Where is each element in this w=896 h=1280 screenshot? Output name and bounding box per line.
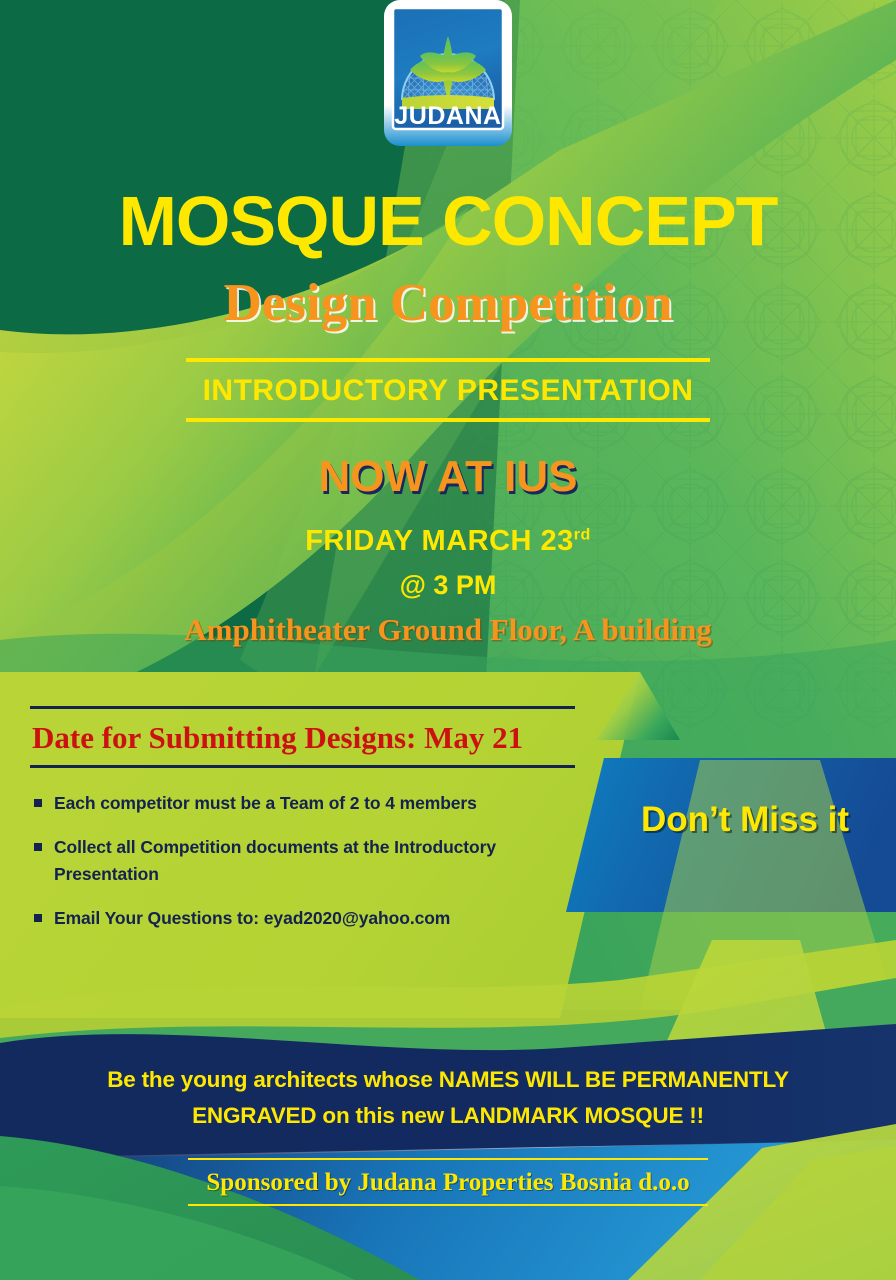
event-date: FRIDAY MARCH 23rd	[0, 527, 896, 556]
now-at-ius-heading: NOW AT IUS	[0, 455, 896, 499]
details-panel: Date for Submitting Designs: May 21 Each…	[30, 706, 590, 950]
poster-title: MOSQUE CONCEPT	[0, 186, 896, 256]
submission-deadline: Date for Submitting Designs: May 21	[30, 709, 590, 765]
poster-subtitle: Design Competition	[0, 277, 896, 330]
sponsor-text: Sponsored by Judana Properties Bosnia d.…	[188, 1160, 708, 1204]
banner-line-1: Be the young architects whose NAMES WILL…	[0, 1062, 896, 1098]
poster-root: JUDANA MOSQUE CONCEPT Design Competition…	[0, 0, 896, 1280]
dont-miss-it-callout: Don’t Miss it	[600, 800, 890, 840]
event-date-text: FRIDAY MARCH 23	[305, 525, 574, 557]
competition-rules-list: Each competitor must be a Team of 2 to 4…	[30, 790, 590, 933]
introductory-presentation-label: INTRODUCTORY PRESENTATION	[186, 362, 710, 418]
event-venue: Amphitheater Ground Floor, A building	[0, 614, 896, 645]
logo-wordmark: JUDANA	[394, 102, 501, 130]
list-item: Collect all Competition documents at the…	[30, 834, 590, 888]
event-time: @ 3 PM	[0, 572, 896, 599]
judana-logo: JUDANA	[376, 0, 520, 152]
sponsor-rule-bottom	[188, 1204, 708, 1206]
introductory-presentation-block: INTRODUCTORY PRESENTATION	[186, 358, 710, 422]
judana-logo-icon: JUDANA	[376, 0, 520, 152]
event-date-ordinal: rd	[574, 526, 591, 543]
list-item: Email Your Questions to: eyad2020@yahoo.…	[30, 905, 590, 932]
sponsor-footer: Sponsored by Judana Properties Bosnia d.…	[188, 1158, 708, 1206]
banner-line-2: ENGRAVED on this new LANDMARK MOSQUE !!	[0, 1098, 896, 1134]
list-item: Each competitor must be a Team of 2 to 4…	[30, 790, 590, 817]
deadline-rule-bottom	[30, 765, 575, 768]
engraved-names-banner: Be the young architects whose NAMES WILL…	[0, 1062, 896, 1135]
rule-bottom	[186, 418, 710, 422]
